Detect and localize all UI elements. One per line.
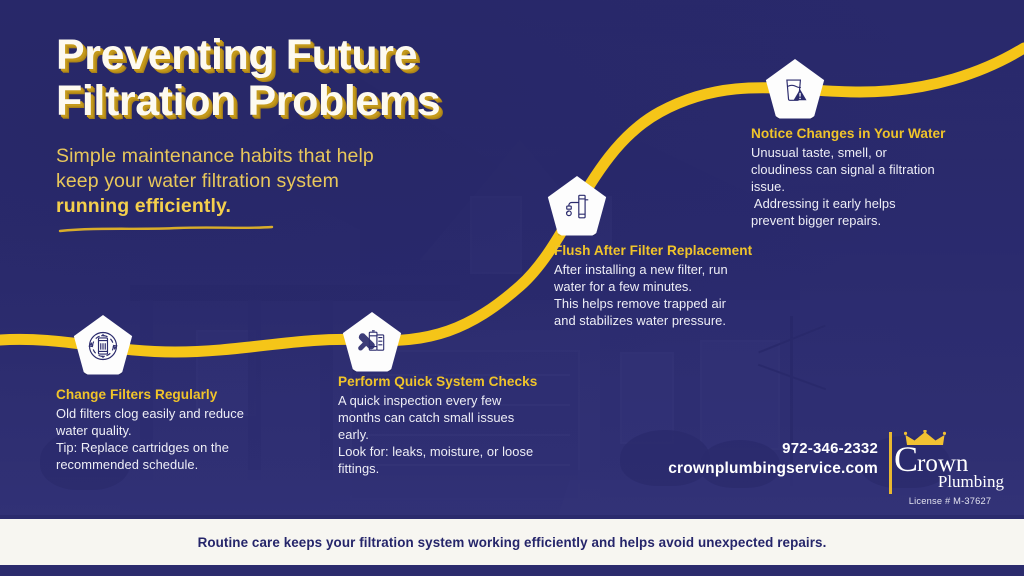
crown-icon-glyph <box>904 430 946 447</box>
step-text-change-filters: Change Filters Regularly Old filters clo… <box>56 387 316 474</box>
step-body: Unusual taste, smell, or cloudiness can … <box>751 145 1013 230</box>
step-body-line: issue. <box>751 179 785 194</box>
hand-drawn-underline <box>58 225 274 233</box>
step-body-line: and stabilizes water pressure. <box>554 313 726 328</box>
step-body-line: After installing a new filter, run <box>554 262 728 277</box>
step-text-flush-after-replacement: Flush After Filter Replacement After ins… <box>554 243 816 330</box>
title-line-2: Filtration Problems <box>56 78 576 124</box>
subtitle-line-1: Simple maintenance habits that help <box>56 145 374 167</box>
header-block: Preventing Future Filtration Problems Si… <box>56 32 576 238</box>
step-title: Flush After Filter Replacement <box>554 243 816 258</box>
crown-icon <box>904 430 1006 446</box>
step-body-line: prevent bigger repairs. <box>751 213 881 228</box>
logo-divider <box>889 432 892 494</box>
water-glass-warning-icon <box>777 72 813 108</box>
filter-cartridge-replace-icon <box>85 328 121 364</box>
step-body-line: Tip: Replace cartridges on the <box>56 440 229 455</box>
step-body-line: Addressing it early helps <box>751 196 896 211</box>
step-body-line: Unusual taste, smell, or <box>751 145 887 160</box>
step-title: Change Filters Regularly <box>56 387 316 402</box>
title-line-1: Preventing Future <box>56 31 417 79</box>
subtitle-line-2: keep your water filtration system <box>56 170 339 192</box>
page-subtitle: Simple maintenance habits that help keep… <box>56 144 576 219</box>
footer-banner: Routine care keeps your filtration syste… <box>0 519 1024 565</box>
footer-bottom-edge <box>0 565 1024 576</box>
phone-number[interactable]: 972-346-2332 <box>668 440 878 457</box>
subtitle-line-3: running efficiently. <box>56 195 231 217</box>
step-body-line: months can catch small issues <box>338 410 514 425</box>
footer-message: Routine care keeps your filtration syste… <box>198 535 827 550</box>
step-text-system-checks: Perform Quick System Checks A quick insp… <box>338 374 598 478</box>
faucet-drip-icon <box>559 189 595 225</box>
step-body-line: recommended schedule. <box>56 457 198 472</box>
step-body-line: water quality. <box>56 423 132 438</box>
infographic-canvas: Preventing Future Filtration Problems Si… <box>0 0 1024 576</box>
wrench-filter-icon <box>354 325 390 361</box>
step-body-line: water for a few minutes. <box>554 279 692 294</box>
step-body: A quick inspection every few months can … <box>338 393 598 478</box>
step-body-line: Old filters clog easily and reduce <box>56 406 244 421</box>
license-number: License # M-37627 <box>894 496 1006 506</box>
step-body-line: This helps remove trapped air <box>554 296 726 311</box>
step-title: Notice Changes in Your Water <box>751 126 1013 141</box>
contact-block: 972-346-2332 crownplumbingservice.com <box>668 440 878 478</box>
step-body-line: Look for: leaks, moisture, or loose <box>338 444 533 459</box>
step-body-line: early. <box>338 427 369 442</box>
step-text-notice-changes: Notice Changes in Your Water Unusual tas… <box>751 126 1013 230</box>
logo-letter-c: C <box>894 443 918 475</box>
step-body: After installing a new filter, run water… <box>554 262 816 330</box>
step-body-line: A quick inspection every few <box>338 393 501 408</box>
step-body: Old filters clog easily and reduce water… <box>56 406 316 474</box>
step-body-line: fittings. <box>338 461 379 476</box>
crown-plumbing-logo: C rown Plumbing License # M-37627 <box>894 430 1006 506</box>
website-url[interactable]: crownplumbingservice.com <box>668 460 878 478</box>
step-body-line: cloudiness can signal a filtration <box>751 162 935 177</box>
page-title: Preventing Future Filtration Problems <box>56 32 576 124</box>
step-title: Perform Quick System Checks <box>338 374 598 389</box>
